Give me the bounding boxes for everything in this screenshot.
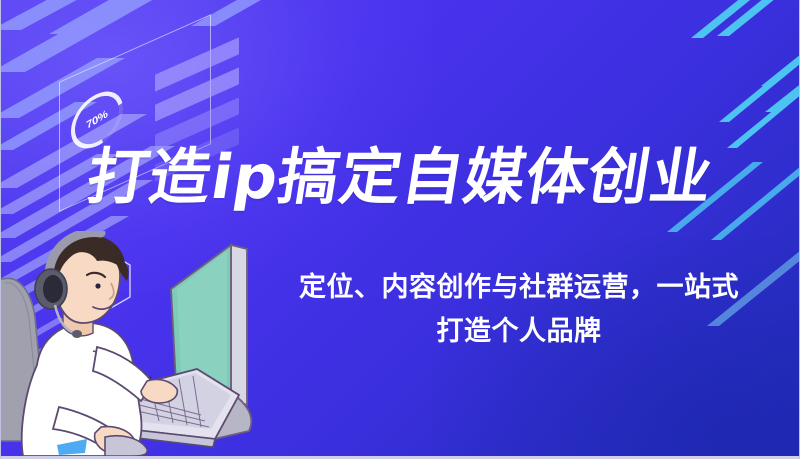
banner-subtitle: 定位、内容创作与社群运营，一站式 打造个人品牌 bbox=[261, 266, 777, 354]
banner-title: 打造ip搞定自媒体创业 bbox=[0, 143, 800, 213]
person-at-computer bbox=[1, 231, 301, 456]
subtitle-line-1: 定位、内容创作与社群运营，一站式 bbox=[261, 266, 777, 310]
subtitle-line-2: 打造个人品牌 bbox=[261, 310, 777, 354]
promo-banner: 70% 打造ip搞定自媒体创业 定位、内容创作与社群运营，一站式 打造个人品牌 bbox=[0, 0, 800, 459]
